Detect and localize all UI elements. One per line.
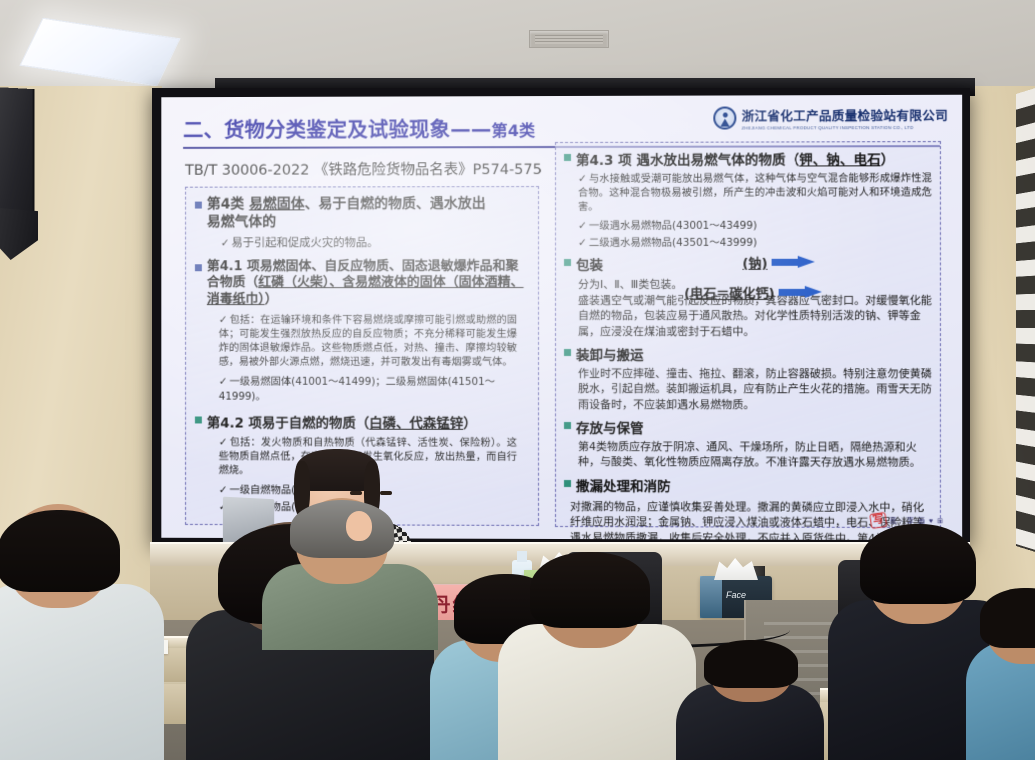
screenshot-scene: 二、货物分类鉴定及试验现象——第4类 浙江省化工产品质量检验站有限公司 ZHEJ…	[0, 0, 1035, 760]
presenter-hand	[346, 511, 372, 541]
audience-hair	[704, 640, 798, 688]
audience-member	[498, 560, 698, 760]
audience-member	[966, 590, 1035, 760]
audience-hair	[0, 510, 120, 592]
audience-member	[676, 640, 826, 760]
audience-member	[0, 510, 168, 760]
tissue-box-label: Face	[706, 590, 766, 600]
presenter-eye-left	[350, 491, 362, 495]
audience-hair	[860, 524, 976, 604]
presenter-eye-right	[380, 491, 392, 495]
audience-hair	[530, 552, 650, 628]
audience-torso	[0, 584, 164, 760]
room-foreground: 许丹红 Face	[0, 0, 1035, 760]
audience-hair	[980, 588, 1035, 648]
audience-hair-grey	[290, 500, 394, 558]
